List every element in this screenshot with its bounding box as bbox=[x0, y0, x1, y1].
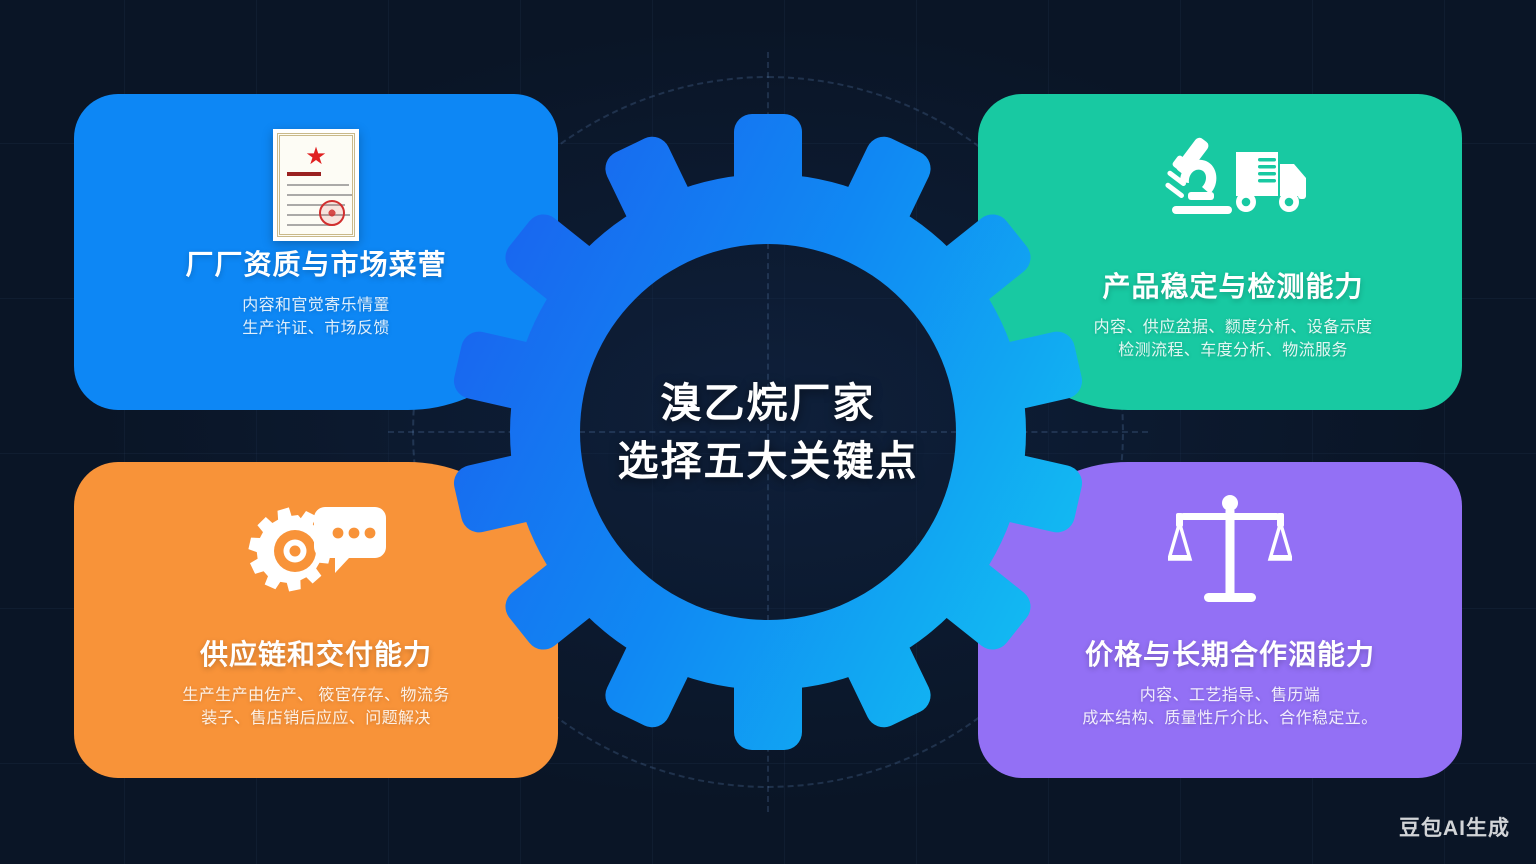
card-price-subtitle-line1: 内容、工艺指导、售历端 bbox=[1082, 684, 1377, 707]
card-price-subtitle: 内容、工艺指导、售历端 成本结构、质量性斤介比、合作稳定立。 bbox=[1082, 684, 1377, 730]
card-testing-subtitle-line2: 检测流程、车度分析、物流服务 bbox=[1094, 339, 1373, 362]
certificate-icon: ★ bbox=[273, 129, 359, 241]
balance-scale-icon bbox=[1168, 493, 1292, 609]
card-supply-subtitle-line2: 装子、售店销后应应、问题解决 bbox=[182, 707, 449, 730]
card-testing-subtitle-line1: 内容、供应盆据、颣度分析、设备示度 bbox=[1094, 316, 1373, 339]
gear-chat-icon bbox=[243, 497, 389, 605]
card-quality-subtitle-line2: 生产许证、市场反馈 bbox=[242, 317, 390, 340]
card-quality-subtitle-line1: 内容和官觉寄乐情罿 bbox=[242, 294, 390, 317]
card-price-subtitle-line2: 成本结构、质量性斤介比、合作稳定立。 bbox=[1082, 707, 1377, 730]
card-supply-title: 供应链和交付能力 bbox=[200, 640, 432, 671]
center-title-line1: 溴乙烷厂家 bbox=[553, 374, 983, 432]
center-title-line2: 选择五大关键点 bbox=[553, 432, 983, 490]
center-title: 溴乙烷厂家 选择五大关键点 bbox=[553, 374, 983, 490]
card-supply-subtitle: 生产生产由佐产、 筱宦存存、物流务 装子、售店销后应应、问题解决 bbox=[182, 684, 449, 730]
card-testing-title: 产品稳定与检测能力 bbox=[1102, 272, 1363, 303]
card-price-title: 价格与长期合作洇能力 bbox=[1085, 640, 1375, 671]
card-quality-subtitle: 内容和官觉寄乐情罿 生产许证、市场反馈 bbox=[242, 294, 390, 340]
card-supply-subtitle-line1: 生产生产由佐产、 筱宦存存、物流务 bbox=[182, 684, 449, 707]
infographic-poster: ★ 厂厂资质与市场菜菅 内容和官觉寄乐情罿 生产许证、市场反馈 bbox=[0, 0, 1536, 864]
microscope-truck-icon bbox=[1158, 130, 1308, 236]
card-quality-title: 厂厂资质与市场菜菅 bbox=[185, 250, 446, 281]
watermark: 豆包AI生成 bbox=[1399, 812, 1510, 842]
card-testing-subtitle: 内容、供应盆据、颣度分析、设备示度 检测流程、车度分析、物流服务 bbox=[1094, 316, 1373, 362]
